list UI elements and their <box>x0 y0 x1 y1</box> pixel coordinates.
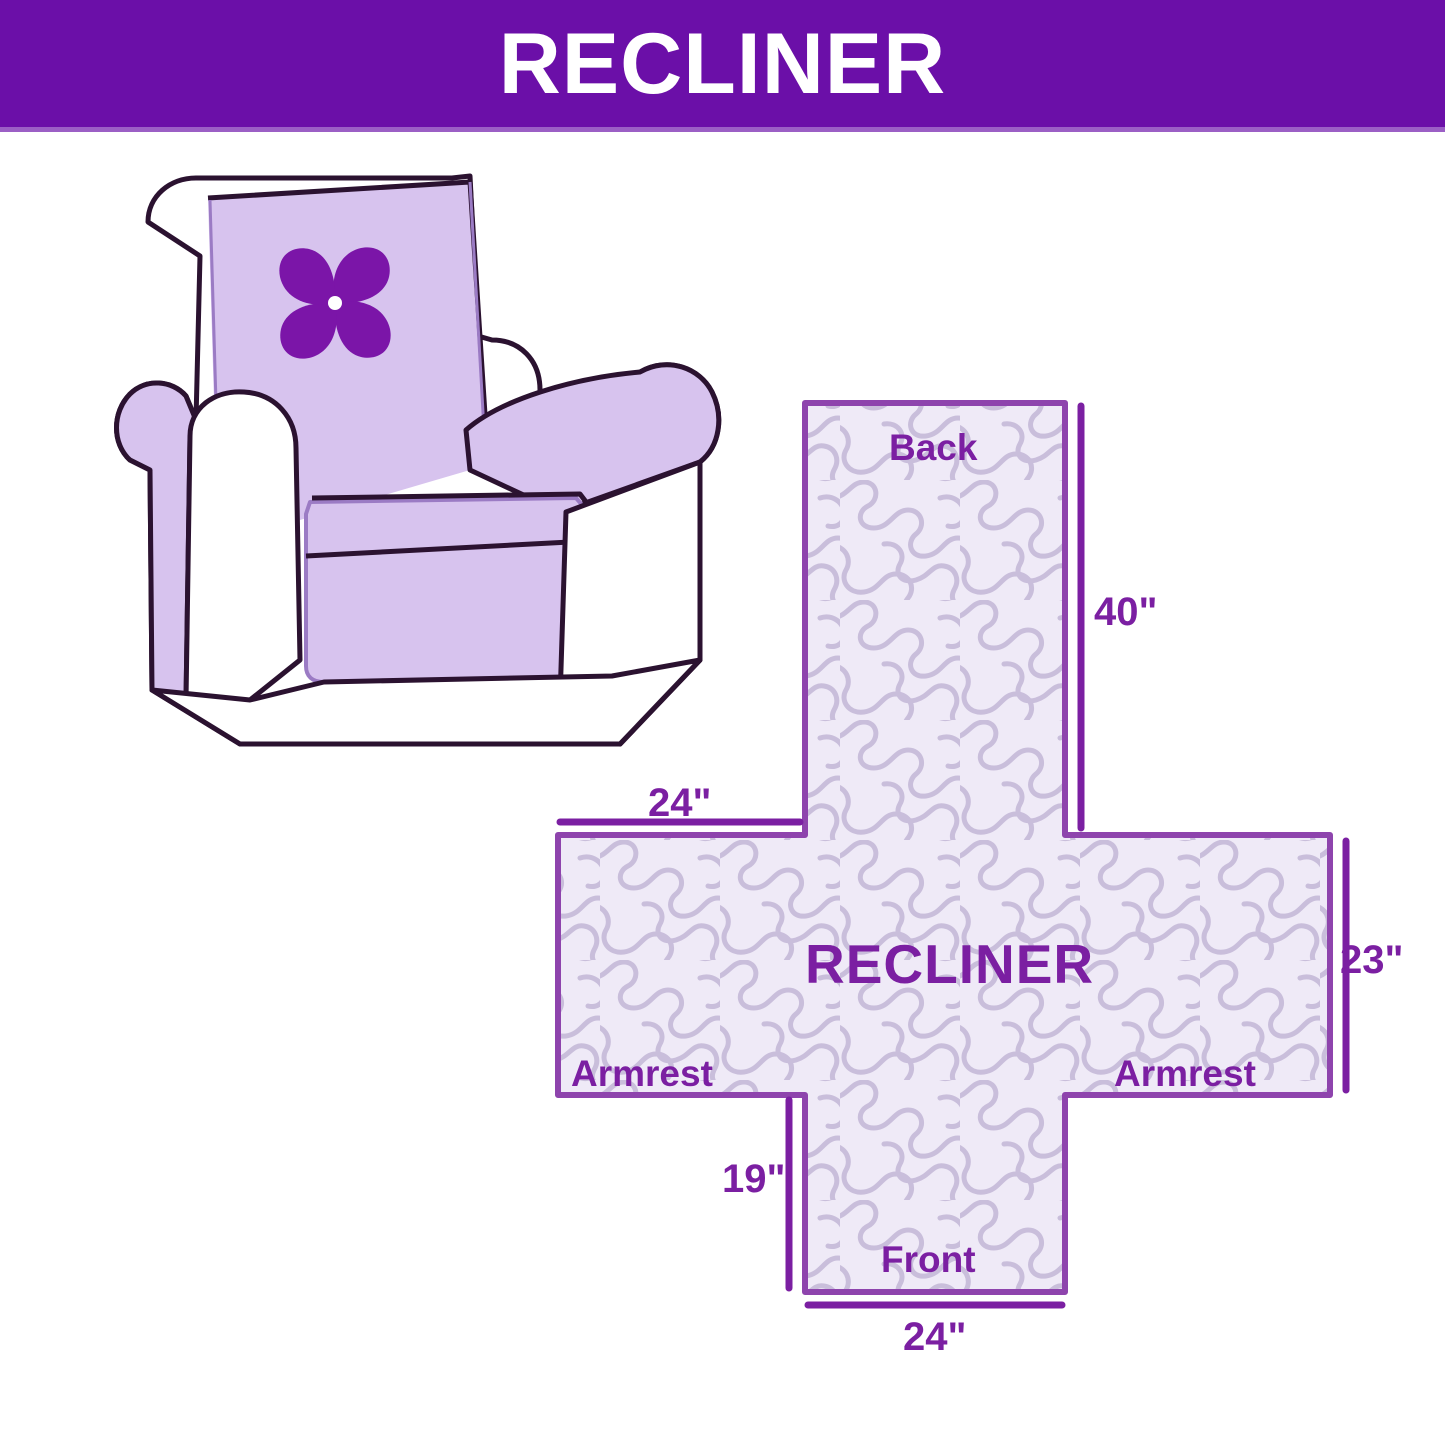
dimension-label-back-height: 40" <box>1094 592 1157 632</box>
center-label-recliner: RECLINER <box>805 937 1094 992</box>
dimension-label-armrest-height: 23" <box>1340 940 1403 980</box>
product-diagram-page: RECLINER <box>0 0 1445 1445</box>
header-underline <box>0 127 1445 132</box>
panel-label-armrest-right: Armrest <box>1114 1055 1256 1092</box>
panel-label-armrest-left: Armrest <box>571 1055 713 1092</box>
pinwheel-fan-icon <box>279 247 390 358</box>
dimension-label-front-width: 24" <box>903 1317 966 1357</box>
panel-label-back: Back <box>889 429 977 466</box>
panel-label-front: Front <box>881 1241 976 1278</box>
dimension-lines <box>560 406 1346 1305</box>
chair-graphic <box>117 176 719 744</box>
recliner-chair-illustration <box>0 0 1445 1445</box>
dimension-label-front-height: 19" <box>722 1159 785 1199</box>
cross-panel-shape <box>558 403 1330 1292</box>
page-title: RECLINER <box>0 0 1445 127</box>
dimension-label-armrest-top: 24" <box>648 783 711 823</box>
slipcover-flat-layout <box>558 403 1330 1292</box>
